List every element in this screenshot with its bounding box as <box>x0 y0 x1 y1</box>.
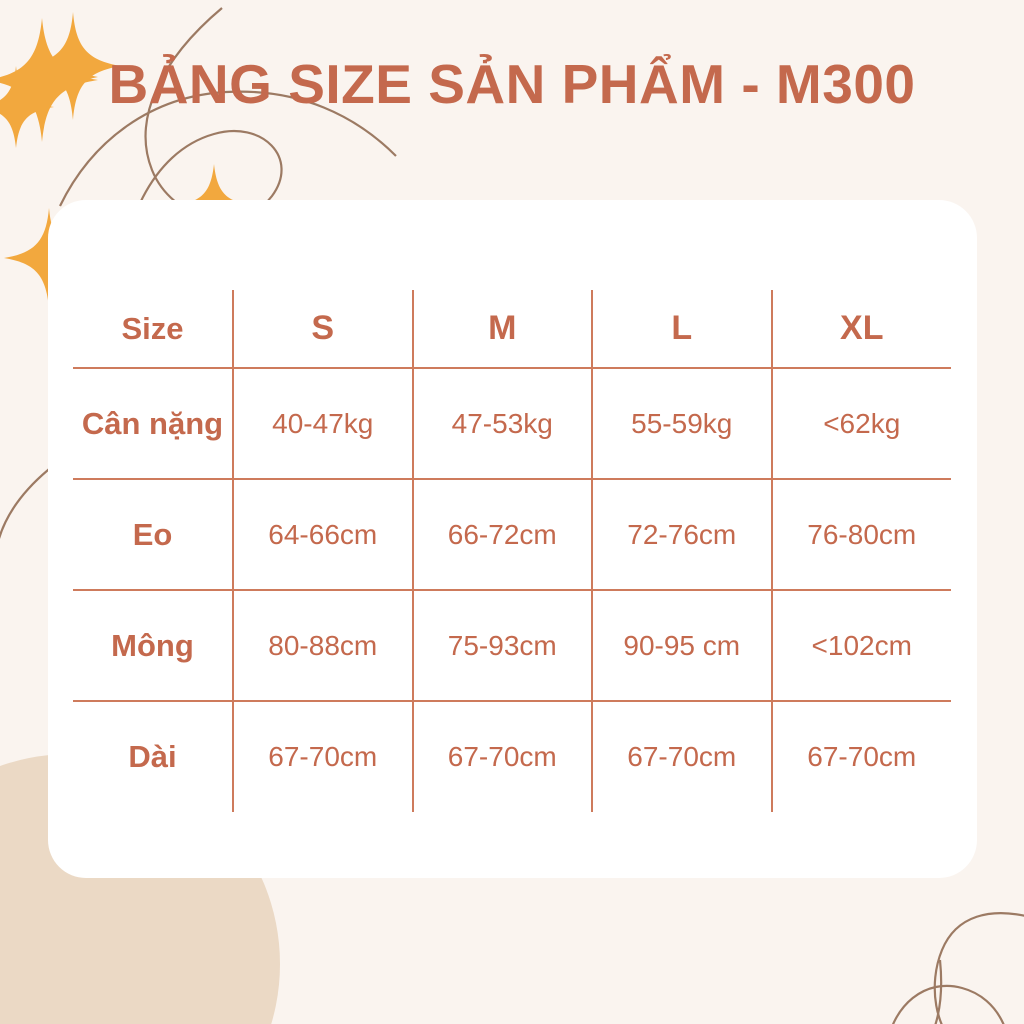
size-chart-page: BẢNG SIZE SẢN PHẨM - M300 Size S M L XL <box>0 0 1024 1024</box>
cell-weight-m: 47-53kg <box>413 368 593 479</box>
row-label-hip: Mông <box>73 590 233 701</box>
table-header-m: M <box>413 290 593 368</box>
cell-hip-l: 90-95 cm <box>592 590 772 701</box>
decorative-curve-bottom-right-b <box>916 960 941 1024</box>
cell-waist-xl: 76-80cm <box>772 479 952 590</box>
cell-length-s: 67-70cm <box>233 701 413 812</box>
cell-length-m: 67-70cm <box>413 701 593 812</box>
table-header-row: Size S M L XL <box>73 290 951 368</box>
cell-waist-l: 72-76cm <box>592 479 772 590</box>
cell-waist-s: 64-66cm <box>233 479 413 590</box>
table-header-size: Size <box>73 290 233 368</box>
decorative-curve-bottom-right-c <box>886 986 1010 1024</box>
cell-weight-l: 55-59kg <box>592 368 772 479</box>
table-header-s: S <box>233 290 413 368</box>
cell-length-l: 67-70cm <box>592 701 772 812</box>
cell-weight-s: 40-47kg <box>233 368 413 479</box>
cell-length-xl: 67-70cm <box>772 701 952 812</box>
cell-hip-xl: <102cm <box>772 590 952 701</box>
table-header-l: L <box>592 290 772 368</box>
decorative-curve-bottom-right-a <box>935 913 1024 1024</box>
table-row-length: Dài 67-70cm 67-70cm 67-70cm 67-70cm <box>73 701 951 812</box>
table-row-hip: Mông 80-88cm 75-93cm 90-95 cm <102cm <box>73 590 951 701</box>
size-table: Size S M L XL Cân nặng 40-47kg 47-53kg 5… <box>73 290 951 812</box>
cell-hip-m: 75-93cm <box>413 590 593 701</box>
cell-waist-m: 66-72cm <box>413 479 593 590</box>
row-label-weight: Cân nặng <box>73 368 233 479</box>
cell-hip-s: 80-88cm <box>233 590 413 701</box>
table-row-weight: Cân nặng 40-47kg 47-53kg 55-59kg <62kg <box>73 368 951 479</box>
cell-weight-xl: <62kg <box>772 368 952 479</box>
table-header-xl: XL <box>772 290 952 368</box>
table-row-waist: Eo 64-66cm 66-72cm 72-76cm 76-80cm <box>73 479 951 590</box>
page-title: BẢNG SIZE SẢN PHẨM - M300 <box>0 52 1024 116</box>
size-table-container: Size S M L XL Cân nặng 40-47kg 47-53kg 5… <box>73 290 951 812</box>
row-label-length: Dài <box>73 701 233 812</box>
row-label-waist: Eo <box>73 479 233 590</box>
